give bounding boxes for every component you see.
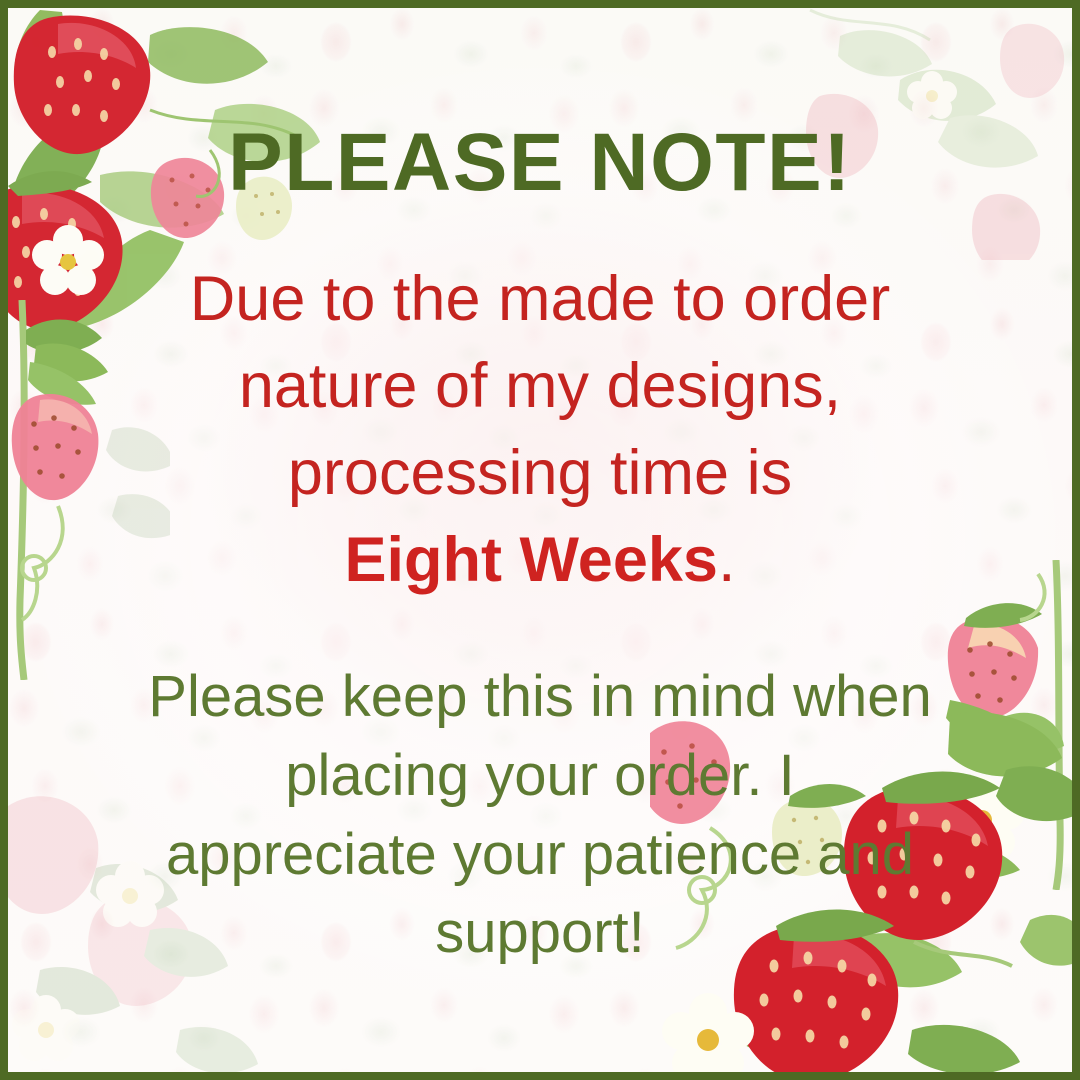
patience-request-paragraph: Please keep this in mind when placing yo…	[148, 658, 931, 974]
green-line-1: Please keep this in mind when	[148, 664, 931, 729]
red-line-3: processing time is	[288, 438, 792, 508]
notice-content: PLEASE NOTE! Due to the made to order na…	[0, 0, 1080, 1080]
announcement-graphic: PLEASE NOTE! Due to the made to order na…	[0, 0, 1080, 1080]
emphasis-period: .	[718, 525, 736, 595]
green-line-3: appreciate your patience and	[166, 822, 914, 887]
processing-time-emphasis: Eight Weeks	[345, 525, 718, 595]
green-line-2: placing your order. I	[285, 743, 794, 808]
processing-time-paragraph: Due to the made to order nature of my de…	[190, 256, 890, 604]
green-line-4: support!	[435, 900, 645, 965]
page-title: PLEASE NOTE!	[228, 122, 852, 204]
red-line-1: Due to the made to order	[190, 264, 890, 334]
red-line-2: nature of my designs,	[239, 351, 841, 421]
